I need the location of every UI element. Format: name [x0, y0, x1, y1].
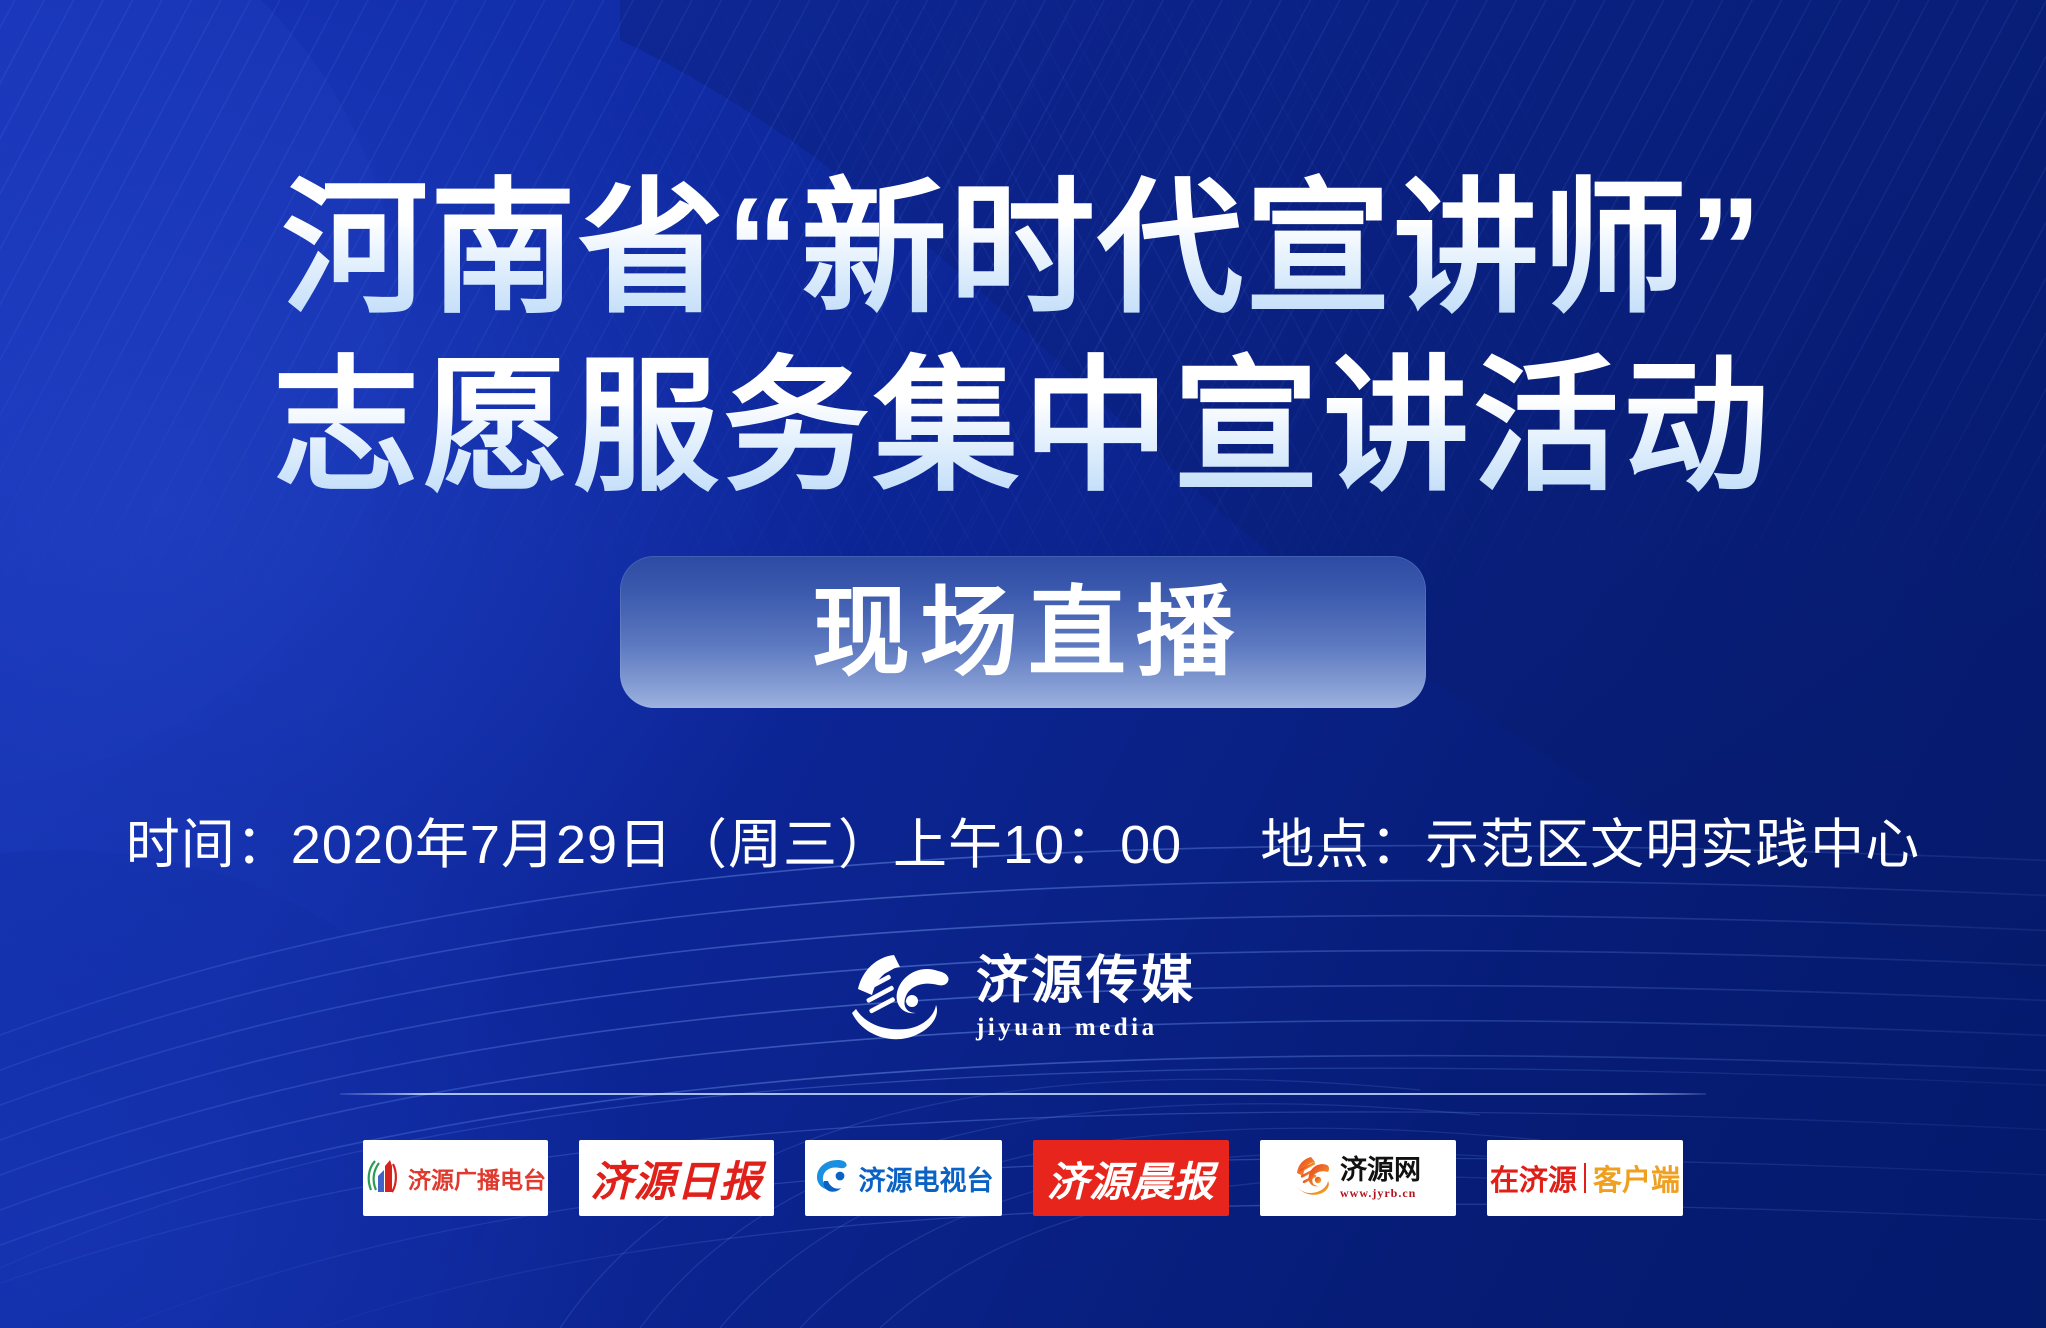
jiyuan-media-logo: 济源传媒 jiyuan media	[850, 951, 1196, 1043]
poster-title: 河南省“新时代宣讲师” 志愿服务集中宣讲活动	[0, 160, 2046, 516]
partner-sub-name: 客户端	[1593, 1157, 1680, 1199]
live-badge: 现场直播	[620, 556, 1426, 708]
event-time: 时间：2020年7月29日（周三）上午10：00	[126, 815, 1182, 875]
partner-logo-jiyuan-morning-post[interactable]: 济源晨报	[1033, 1140, 1229, 1216]
jiyuan-media-name-cn: 济源传媒	[976, 955, 1196, 1007]
title-line-1: 河南省“新时代宣讲师”	[0, 160, 2046, 338]
partner-name: 在济源	[1490, 1157, 1577, 1199]
jiyuan-media-mark-icon	[850, 951, 954, 1043]
partner-name: 济源晨报	[1047, 1148, 1215, 1208]
partner-name: 济源电视台	[859, 1159, 994, 1198]
event-info: 时间：2020年7月29日（周三）上午10：00 地点：示范区文明实践中心	[126, 800, 1920, 879]
partner-url: www.jyrb.cn	[1340, 1187, 1416, 1199]
jiyuan-scroll-icon	[1295, 1155, 1331, 1202]
live-stream-poster: 河南省“新时代宣讲师” 志愿服务集中宣讲活动 现场直播 时间：2020年7月29…	[0, 0, 2046, 1328]
radio-tower-icon	[365, 1156, 399, 1201]
tv-swirl-icon	[814, 1157, 850, 1200]
partner-logo-jiyuan-radio[interactable]: 济源广播电台	[363, 1140, 548, 1216]
partner-name: 济源广播电台	[408, 1161, 546, 1195]
partner-name: 济源网	[1340, 1157, 1421, 1184]
partner-logo-jiyuan-tv[interactable]: 济源电视台	[805, 1140, 1002, 1216]
footer-divider	[340, 1093, 1706, 1095]
live-badge-label: 现场直播	[802, 583, 1244, 681]
partner-logo-jiyuan-net[interactable]: 济源网 www.jyrb.cn	[1260, 1140, 1456, 1216]
partner-name: 济源日报	[591, 1148, 763, 1209]
partner-logo-jiyuan-daily[interactable]: 济源日报	[579, 1140, 774, 1216]
jiyuan-media-name-en: jiyuan media	[976, 1015, 1158, 1040]
event-place: 地点：示范区文明实践中心	[1260, 815, 1920, 875]
divider-bar	[1584, 1163, 1586, 1193]
partner-logo-zai-jiyuan-app[interactable]: 在济源 客户端	[1487, 1140, 1683, 1216]
title-line-2: 志愿服务集中宣讲活动	[0, 338, 2046, 516]
partner-logo-row: 济源广播电台 济源日报 济源电视台 济源晨报	[0, 1140, 2046, 1216]
